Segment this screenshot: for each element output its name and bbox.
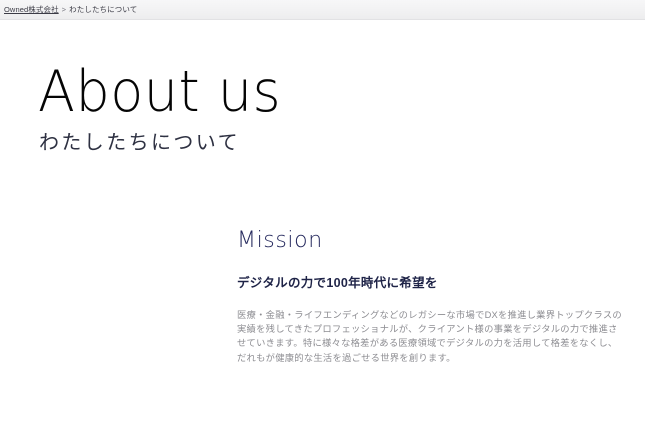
mission-lead-text: デジタルの力で100年時代に希望を [237, 275, 627, 292]
page-subtitle: わたしたちについて [39, 130, 281, 156]
mission-body-text: 医療・金融・ライフエンディングなどのレガシーな市場でDXを推進し業界トップクラス… [237, 308, 626, 365]
breadcrumb-separator-icon: > [62, 5, 66, 15]
breadcrumb-bar: Owned株式会社 > わたしたちについて [0, 0, 645, 20]
breadcrumb-link-home[interactable]: Owned株式会社 [4, 5, 59, 15]
page-title: About us [38, 62, 281, 121]
breadcrumb: Owned株式会社 > わたしたちについて [0, 5, 137, 15]
mission-section: Mission デジタルの力で100年時代に希望を 医療・金融・ライフエンディン… [237, 228, 627, 365]
hero-section: About us わたしたちについて [38, 62, 281, 156]
mission-heading: Mission [237, 228, 627, 254]
breadcrumb-current-page: わたしたちについて [69, 5, 137, 15]
